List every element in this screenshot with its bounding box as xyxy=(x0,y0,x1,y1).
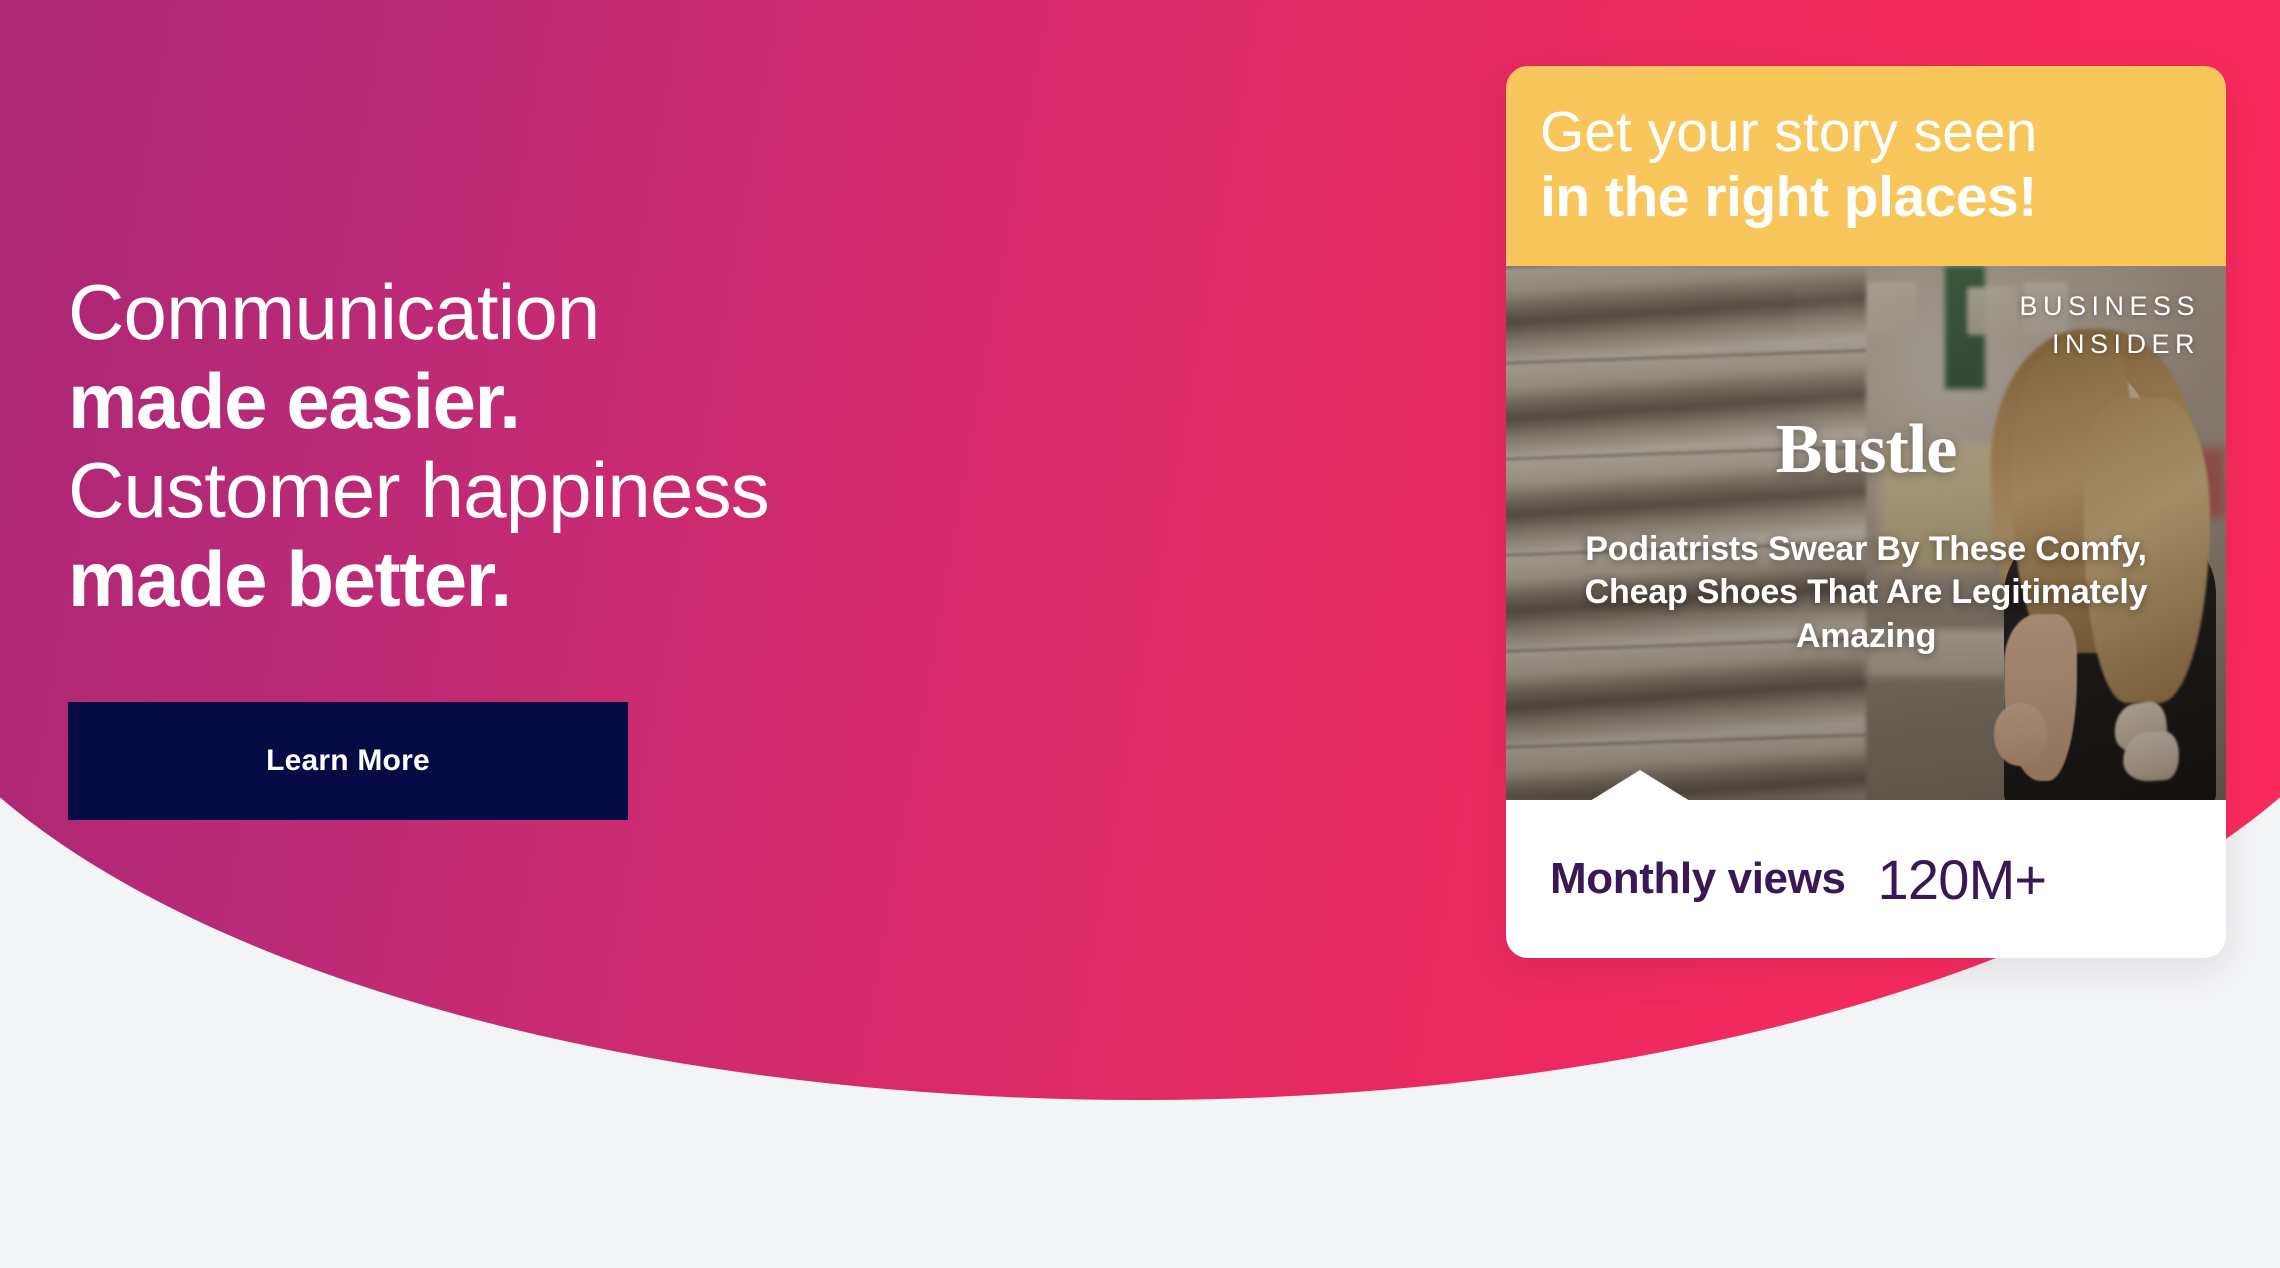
headline-line-2: made easier. xyxy=(68,357,769,446)
hero-banner: Communication made easier. Customer happ… xyxy=(0,0,2280,1268)
promo-card-footer: Monthly views 120M+ xyxy=(1506,800,2226,958)
article-headline: Podiatrists Swear By These Comfy, Cheap … xyxy=(1549,528,2183,659)
promo-card-photo: BUSINESS INSIDER Bustle Podiatrists Swea… xyxy=(1506,266,2226,800)
promo-header-line-1: Get your story seen xyxy=(1540,100,2192,165)
learn-more-button[interactable]: Learn More xyxy=(68,702,628,820)
monthly-views-label: Monthly views xyxy=(1550,854,1846,904)
business-insider-logo: BUSINESS INSIDER xyxy=(2019,288,2200,364)
headline-line-1: Communication xyxy=(68,268,769,357)
promo-header-line-2: in the right places! xyxy=(1540,165,2192,230)
promo-card[interactable]: Get your story seen in the right places! xyxy=(1506,66,2226,958)
hero-copy-block: Communication made easier. Customer happ… xyxy=(68,268,769,820)
bustle-wordmark: Bustle xyxy=(1506,410,2226,490)
headline-line-4: made better. xyxy=(68,535,769,624)
notch-triangle-icon xyxy=(1590,770,1690,801)
headline-line-3: Customer happiness xyxy=(68,446,769,535)
publisher-logo-line-1: BUSINESS xyxy=(2019,288,2200,326)
publisher-logo-line-2: INSIDER xyxy=(2019,326,2200,364)
promo-card-header: Get your story seen in the right places! xyxy=(1506,66,2226,266)
monthly-views-value: 120M+ xyxy=(1878,847,2047,912)
page-title: Communication made easier. Customer happ… xyxy=(68,268,769,624)
